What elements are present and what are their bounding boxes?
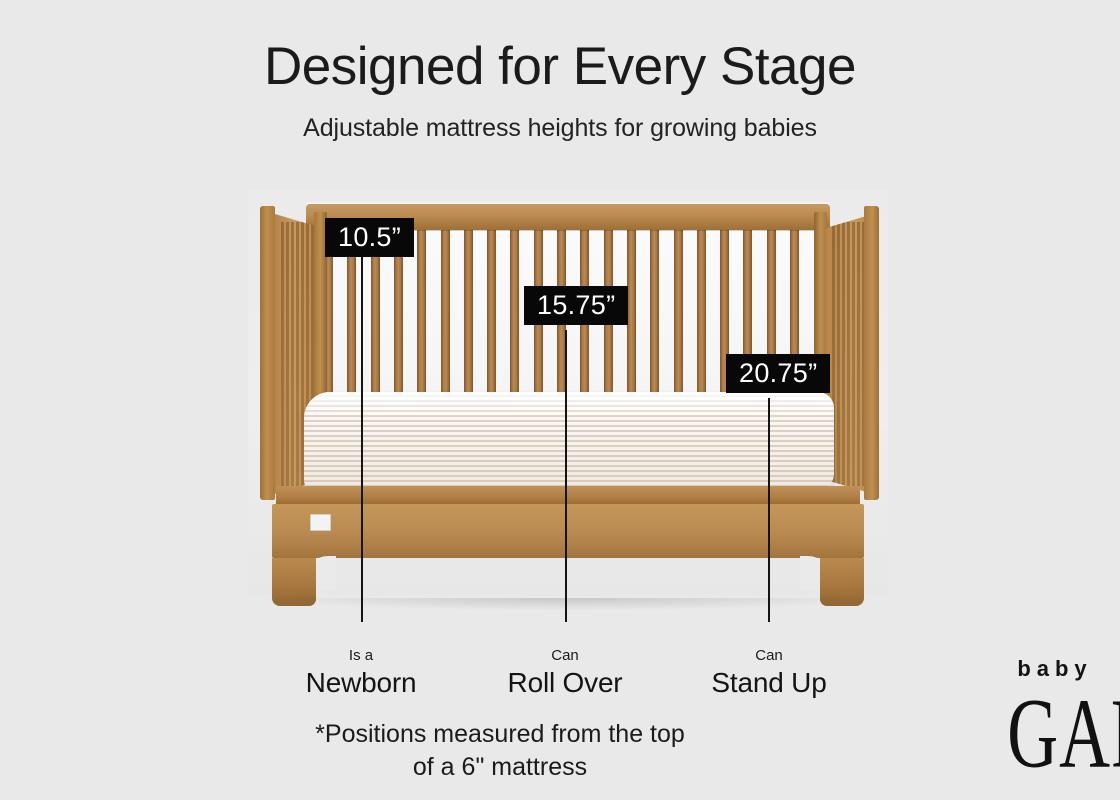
stage-label-newborn: Is a Newborn bbox=[246, 648, 476, 700]
page-title: Designed for Every Stage bbox=[0, 38, 1120, 95]
panel-ridge bbox=[281, 222, 284, 485]
panel-ridge bbox=[842, 222, 845, 485]
leader-line-roll-over bbox=[565, 330, 567, 622]
leader-line-newborn bbox=[361, 256, 363, 622]
panel-ridge bbox=[286, 222, 289, 485]
right-outer-post bbox=[864, 206, 879, 500]
measurement-badge-roll-over: 15.75” bbox=[524, 286, 628, 325]
measurement-badge-stand-up: 20.75” bbox=[726, 354, 830, 393]
crib-deck-rail bbox=[276, 486, 860, 506]
panel-ridge bbox=[852, 222, 855, 485]
panel-ridge bbox=[296, 222, 299, 485]
panel-ridge bbox=[291, 222, 294, 485]
measurement-badge-newborn: 10.5” bbox=[325, 218, 414, 257]
page-subtitle: Adjustable mattress heights for growing … bbox=[0, 114, 1120, 143]
floor-shadow bbox=[266, 598, 870, 610]
footnote-line-2: of a 6" mattress bbox=[0, 751, 1000, 784]
stage-label-stand-up: Can Stand Up bbox=[654, 648, 884, 700]
footnote: *Positions measured from the top of a 6"… bbox=[0, 718, 1000, 784]
footnote-line-1: *Positions measured from the top bbox=[0, 718, 1000, 751]
babygap-logo: baby GAP bbox=[1000, 658, 1104, 764]
panel-ridge bbox=[847, 222, 850, 485]
leader-line-stand-up bbox=[768, 398, 770, 622]
left-outer-post bbox=[260, 206, 275, 500]
panel-ridge bbox=[857, 222, 860, 485]
stage-caption-stand-up: Can bbox=[654, 648, 884, 665]
mattress-highlight bbox=[304, 392, 834, 418]
stage-name-roll-over: Roll Over bbox=[450, 665, 680, 700]
stage-name-newborn: Newborn bbox=[246, 665, 476, 700]
stage-name-stand-up: Stand Up bbox=[654, 665, 884, 700]
product-label-tag bbox=[310, 514, 331, 531]
panel-ridge bbox=[837, 222, 840, 485]
stage-caption-roll-over: Can bbox=[450, 648, 680, 665]
infographic-canvas: Designed for Every Stage Adjustable matt… bbox=[0, 0, 1120, 800]
logo-gap-text: GAP bbox=[1007, 686, 1096, 781]
stage-caption-newborn: Is a bbox=[246, 648, 476, 665]
stage-label-roll-over: Can Roll Over bbox=[450, 648, 680, 700]
